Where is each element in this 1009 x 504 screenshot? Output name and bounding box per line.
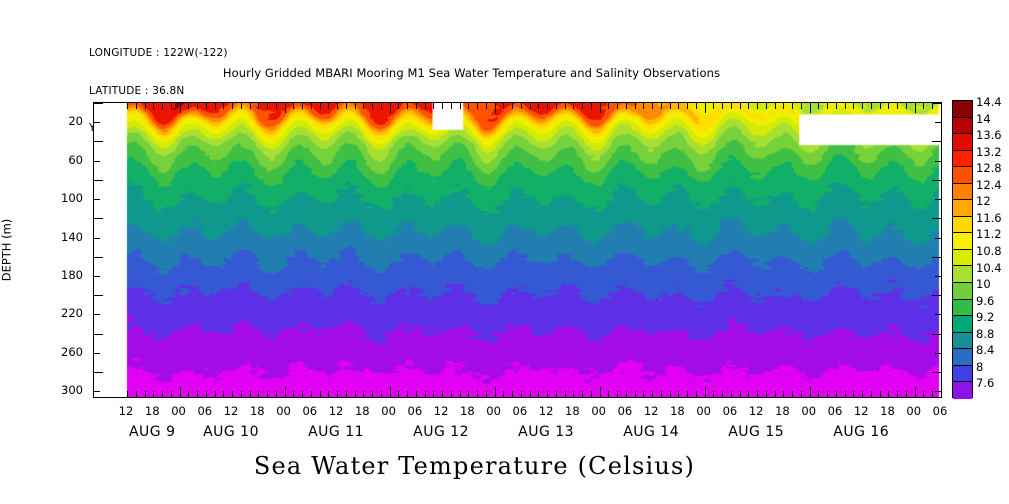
x-axis-hour-label: 06 [302,404,317,418]
y-axis-tick [94,180,103,181]
x-axis-hour-label: 00 [801,404,816,418]
color-scale-band [953,266,972,283]
x-axis-tick [600,387,601,397]
x-axis-tick [845,391,846,397]
x-axis-tick [232,391,233,397]
x-axis-tick [267,391,268,397]
x-axis-tick [285,103,286,113]
x-axis-tick [547,391,548,397]
x-axis-tick [626,391,627,397]
x-axis-day-labels: AUG 9AUG 10AUG 11AUG 12AUG 13AUG 14AUG 1… [93,424,942,444]
color-scale-band [953,233,972,250]
x-axis-tick [626,103,627,109]
x-axis-tick [267,103,268,109]
color-scale-tick-label: 11.6 [976,211,1002,225]
x-axis-tick [888,103,889,109]
x-axis-tick [836,103,837,109]
x-axis-day-label: AUG 13 [518,424,574,440]
y-axis-tick-label: 220 [61,306,83,320]
y-axis-tick [94,314,100,315]
x-axis-tick [460,103,461,109]
color-scale-band [953,101,972,118]
x-axis-tick [241,103,242,109]
x-axis-tick [328,103,329,109]
color-scale-tick-label: 11.2 [976,227,1002,241]
x-axis-tick [416,391,417,397]
x-axis-tick [713,103,714,109]
y-axis-tick [935,353,941,354]
x-axis-tick [442,391,443,397]
x-axis-tick [381,391,382,397]
x-axis-tick [337,391,338,397]
x-axis-tick [276,391,277,397]
x-axis-tick [425,391,426,397]
x-axis-hour-label: 12 [434,404,449,418]
color-scale-tick-label: 14 [976,112,991,126]
x-axis-tick [678,391,679,397]
x-axis-tick [468,391,469,397]
y-axis-tick [935,122,941,123]
x-axis-tick [503,103,504,109]
x-axis-hour-label: 18 [145,404,160,418]
x-axis-hour-label: 00 [696,404,711,418]
x-axis-hour-label: 12 [224,404,239,418]
x-axis-day-label: AUG 10 [203,424,259,440]
x-axis-tick [740,391,741,397]
y-axis-tick [935,199,941,200]
x-axis-hour-label: 06 [618,404,633,418]
x-axis-tick [223,103,224,109]
x-axis-tick [206,391,207,397]
x-axis-tick [346,391,347,397]
x-axis-tick [810,387,811,397]
x-axis-tick [416,103,417,109]
x-axis-tick [285,387,286,397]
x-axis-tick [775,391,776,397]
x-axis-tick [477,103,478,109]
x-axis-tick [801,103,802,109]
x-axis-hour-label: 12 [119,404,134,418]
x-axis-tick [250,103,251,109]
x-axis-tick [258,103,259,109]
x-axis-tick [565,391,566,397]
x-axis-tick [477,391,478,397]
x-axis-tick [932,103,933,109]
x-axis-tick [460,391,461,397]
x-axis-tick [293,103,294,109]
x-axis-tick [188,391,189,397]
x-axis-tick [827,391,828,397]
y-axis-tick [94,199,100,200]
color-scale-band [953,283,972,300]
x-axis-hour-label: 00 [171,404,186,418]
latitude-text: LATITUDE : 36.8N [89,85,228,98]
color-scale-bar [952,100,973,398]
x-axis-tick [670,103,671,109]
x-axis-hour-label: 18 [355,404,370,418]
x-axis-tick [871,391,872,397]
x-axis-tick [906,103,907,109]
y-axis-tick-label: 300 [61,383,83,397]
plot-area [94,103,941,397]
color-scale-band [953,333,972,350]
contour-plot-axes [93,102,942,398]
x-axis-tick [363,103,364,109]
x-axis-tick [241,391,242,397]
x-axis-tick [425,103,426,109]
color-scale-tick-label: 10 [976,277,991,291]
y-axis-tick [932,257,941,258]
y-axis-tick-label: 20 [68,114,83,128]
x-axis-tick [171,391,172,397]
y-axis-tick [932,218,941,219]
y-axis-tick-label: 140 [61,230,83,244]
x-axis-hour-label: 06 [723,404,738,418]
x-axis-tick [661,391,662,397]
x-axis-tick [232,103,233,109]
x-axis-tick [390,387,391,397]
x-axis-tick [792,391,793,397]
x-axis-tick [363,391,364,397]
y-axis-tick [932,103,941,104]
x-axis-tick [250,391,251,397]
x-axis-tick [153,391,154,397]
x-axis-tick [355,103,356,109]
x-axis-tick [398,103,399,109]
x-axis-tick [871,103,872,109]
x-axis-tick [740,103,741,109]
x-axis-tick [880,103,881,109]
x-axis-tick [853,391,854,397]
x-axis-tick [442,103,443,109]
y-axis-tick [932,141,941,142]
y-axis-tick [935,238,941,239]
x-axis-tick [223,391,224,397]
color-scale-tick-label: 14.4 [976,95,1002,109]
x-axis-tick [573,103,574,109]
x-axis-tick [180,103,181,113]
x-axis-tick [346,103,347,109]
x-axis-tick [162,391,163,397]
y-axis-tick [94,391,100,392]
x-axis-hour-label: 06 [513,404,528,418]
x-axis-tick [731,391,732,397]
x-axis-hour-label: 00 [381,404,396,418]
color-scale-band [953,382,972,399]
x-axis-tick [705,103,706,113]
x-axis-tick [512,391,513,397]
x-axis-tick [897,391,898,397]
x-axis-tick [433,103,434,109]
x-axis-tick [530,391,531,397]
x-axis-tick [652,103,653,109]
x-axis-tick [293,391,294,397]
x-axis-tick [757,103,758,109]
x-axis-tick [766,103,767,109]
variable-title: Sea Water Temperature (Celsius) [0,452,1009,480]
x-axis-hour-label: 18 [460,404,475,418]
x-axis-tick [643,391,644,397]
x-axis-tick [608,103,609,109]
x-axis-hour-label: 06 [197,404,212,418]
y-axis-tick [935,314,941,315]
x-axis-tick [433,391,434,397]
x-axis-tick [355,391,356,397]
x-axis-tick [521,103,522,109]
x-axis-tick [687,391,688,397]
x-axis-hour-label: 12 [854,404,869,418]
color-scale-band [953,250,972,267]
x-axis-tick [635,103,636,109]
x-axis-tick [556,103,557,109]
y-axis-tick [94,276,100,277]
x-axis-tick [792,103,793,109]
x-axis-tick [145,391,146,397]
color-scale-band [953,366,972,383]
x-axis-tick [643,103,644,109]
x-axis-tick [731,103,732,109]
color-scale-band [953,200,972,217]
x-axis-tick [127,391,128,397]
color-scale-tick-label: 8.4 [976,343,994,357]
x-axis-tick [591,103,592,109]
x-axis-tick [512,103,513,109]
x-axis-tick [180,387,181,397]
x-axis-tick [862,391,863,397]
x-axis-tick [687,103,688,109]
temperature-heatmap [94,103,941,397]
color-scale-tick-label: 12.8 [976,161,1002,175]
color-scale-band [953,118,972,135]
x-axis-tick [381,103,382,109]
x-axis-tick [538,391,539,397]
y-axis-tick [94,372,103,373]
x-axis-tick [302,391,303,397]
x-axis-tick [136,391,137,397]
x-axis-tick [495,103,496,113]
x-axis-tick [652,391,653,397]
x-axis-tick [556,391,557,397]
y-axis-tick-label: 100 [61,191,83,205]
x-axis-tick [705,387,706,397]
x-axis-tick [258,391,259,397]
color-scale-band [953,300,972,317]
x-axis-tick [748,103,749,109]
x-axis-tick [451,391,452,397]
x-axis-tick [713,391,714,397]
x-axis-day-label: AUG 16 [833,424,889,440]
x-axis-hour-label: 12 [329,404,344,418]
x-axis-hour-label: 06 [933,404,948,418]
x-axis-tick [766,391,767,397]
x-axis-tick [617,391,618,397]
x-axis-tick [748,391,749,397]
color-scale-labels: 14.41413.613.212.812.41211.611.210.810.4… [976,100,1009,398]
x-axis-tick [801,391,802,397]
x-axis-tick [923,103,924,109]
x-axis-tick [451,103,452,109]
x-axis-tick [696,391,697,397]
color-scale-band [953,349,972,366]
y-axis-tick [94,257,103,258]
x-axis-tick [468,103,469,109]
x-axis-day-label: AUG 15 [728,424,784,440]
x-axis-tick [407,103,408,109]
y-axis-tick [94,218,103,219]
x-axis-tick [818,103,819,109]
x-axis-tick [486,103,487,109]
x-axis-tick [582,103,583,109]
y-axis-tick [94,122,100,123]
x-axis-tick [635,391,636,397]
color-scale-tick-label: 10.4 [976,261,1002,275]
y-axis-tick [94,295,103,296]
x-axis-tick [608,391,609,397]
x-axis-tick [302,103,303,109]
color-scale-tick-label: 13.2 [976,145,1002,159]
x-axis-tick [678,103,679,109]
y-axis-tick [932,372,941,373]
x-axis-tick [915,103,916,113]
y-axis-tick-label: 60 [68,153,83,167]
x-axis-day-label: AUG 14 [623,424,679,440]
y-axis-tick [94,161,100,162]
color-scale-tick-label: 13.6 [976,128,1002,142]
y-axis-tick [94,103,103,104]
x-axis-tick [932,391,933,397]
x-axis-tick [880,391,881,397]
x-axis-day-label: AUG 12 [413,424,469,440]
x-axis-tick [757,391,758,397]
x-axis-tick [215,103,216,109]
x-axis-tick [565,103,566,109]
color-scale-tick-label: 12 [976,194,991,208]
x-axis-tick [372,391,373,397]
x-axis-tick [197,391,198,397]
x-axis-tick [853,103,854,109]
x-axis-tick [390,103,391,113]
x-axis-tick [171,103,172,109]
x-axis-tick [827,103,828,109]
x-axis-tick [915,387,916,397]
x-axis-tick [372,103,373,109]
x-axis-tick [923,391,924,397]
color-scale-band [953,184,972,201]
x-axis-tick [145,103,146,109]
y-axis-tick [932,334,941,335]
color-scale-tick-label: 10.8 [976,244,1002,258]
x-axis-hour-label: 18 [250,404,265,418]
y-axis-tick-labels: 2060100140180220260300 [0,102,93,398]
x-axis-tick [862,103,863,109]
y-axis-tick [94,353,100,354]
x-axis-tick [818,391,819,397]
x-axis-tick [320,391,321,397]
y-axis-tick [94,141,103,142]
x-axis-hour-label: 18 [565,404,580,418]
color-scale-band [953,316,972,333]
x-axis-tick [127,103,128,109]
x-axis-tick [188,103,189,109]
x-axis-tick [897,103,898,109]
x-axis-hour-label: 12 [539,404,554,418]
x-axis-tick [398,391,399,397]
color-scale-band [953,151,972,168]
x-axis-tick [722,391,723,397]
x-axis-tick [311,391,312,397]
x-axis-tick [337,103,338,109]
y-axis-tick-label: 260 [61,345,83,359]
x-axis-tick [617,103,618,109]
x-axis-hour-label: 18 [670,404,685,418]
x-axis-hour-label: 06 [408,404,423,418]
x-axis-tick [783,103,784,109]
x-axis-hour-label: 12 [749,404,764,418]
color-scale-tick-label: 9.6 [976,294,994,308]
color-scale-band [953,167,972,184]
color-scale-tick-label: 7.6 [976,376,994,390]
x-axis-tick [661,103,662,109]
x-axis-tick [530,103,531,109]
x-axis-tick [670,391,671,397]
x-axis-tick [810,103,811,113]
y-axis-tick [935,161,941,162]
x-axis-hour-label: 00 [486,404,501,418]
x-axis-hour-label: 00 [276,404,291,418]
x-axis-day-label: AUG 11 [308,424,364,440]
x-axis-tick [845,103,846,109]
x-axis-tick [941,103,942,109]
x-axis-tick [696,103,697,109]
x-axis-hour-label: 06 [828,404,843,418]
y-axis-tick [932,180,941,181]
color-scale-band [953,134,972,151]
y-axis-tick [94,334,103,335]
x-axis-tick [495,387,496,397]
x-axis-hour-labels: 1218000612180006121800061218000612180006… [93,404,942,420]
x-axis-tick [600,103,601,113]
x-axis-tick [722,103,723,109]
x-axis-hour-label: 00 [591,404,606,418]
x-axis-tick [407,391,408,397]
color-scale-band [953,217,972,234]
x-axis-tick [906,391,907,397]
x-axis-tick [503,391,504,397]
plot-title: Hourly Gridded MBARI Mooring M1 Sea Wate… [0,66,1009,80]
x-axis-tick [276,103,277,109]
x-axis-tick [941,391,942,397]
x-axis-tick [591,391,592,397]
x-axis-tick [775,103,776,109]
color-scale-tick-label: 8 [976,360,983,374]
x-axis-tick [162,103,163,109]
x-axis-hour-label: 18 [880,404,895,418]
x-axis-tick [582,391,583,397]
x-axis-tick [328,391,329,397]
y-axis-tick [935,276,941,277]
color-scale-tick-label: 12.4 [976,178,1002,192]
color-scale-tick-label: 8.8 [976,327,994,341]
x-axis-hour-label: 18 [775,404,790,418]
x-axis-tick [888,391,889,397]
x-axis-tick [136,103,137,109]
y-axis-tick-label: 180 [61,268,83,282]
x-axis-tick [538,103,539,109]
x-axis-hour-label: 12 [644,404,659,418]
color-scale-tick-label: 9.2 [976,310,994,324]
x-axis-hour-label: 00 [906,404,921,418]
x-axis-tick [547,103,548,109]
